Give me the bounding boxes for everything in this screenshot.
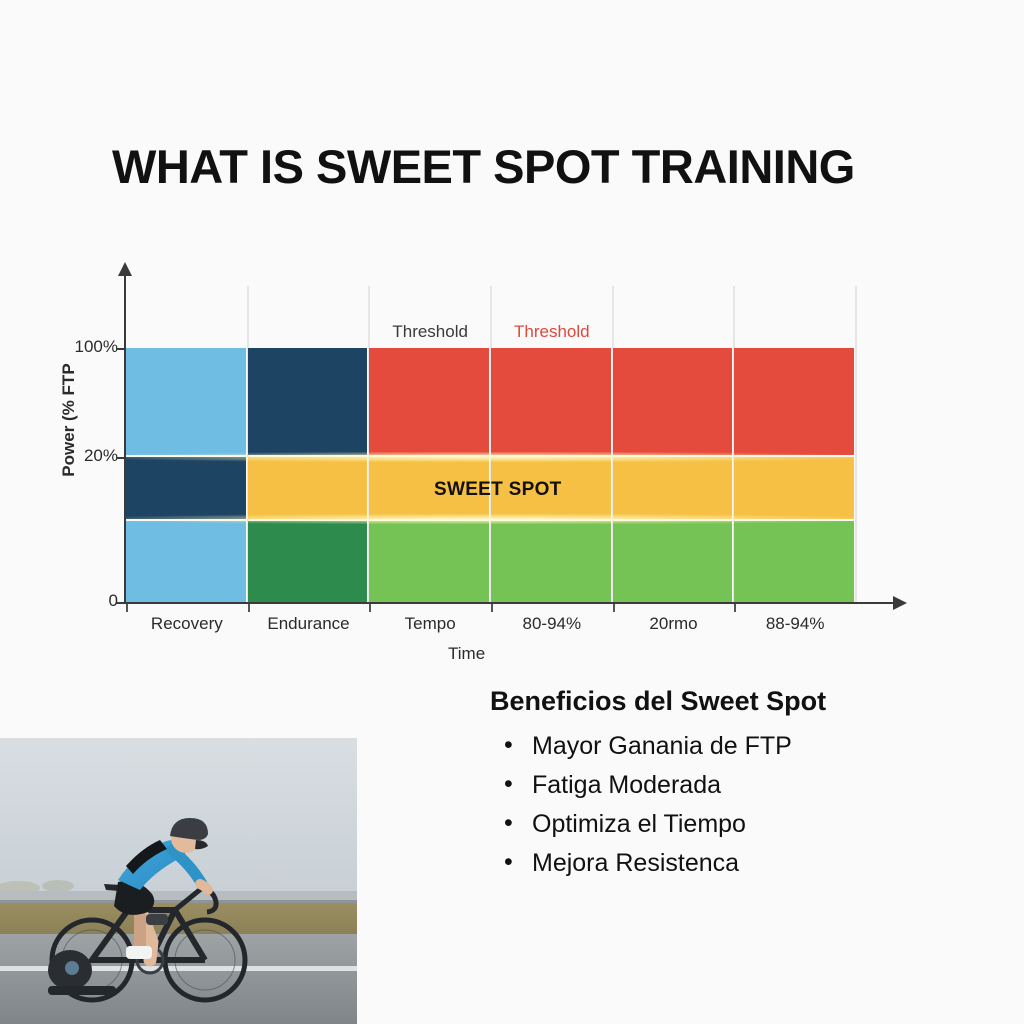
chart-column [734, 348, 854, 602]
benefits-title: Beneficios del Sweet Spot [490, 686, 990, 717]
chart-cell-bottom [491, 521, 611, 602]
chart-column [613, 348, 733, 602]
chart-cell-top [613, 348, 733, 455]
x-axis-arrow-icon [893, 596, 907, 610]
x-tick-label: Tempo [405, 614, 456, 634]
benefit-item: Optimiza el Tiempo [490, 805, 990, 844]
y-tick-mark [116, 348, 125, 350]
cyclist-illustration [0, 738, 357, 1024]
y-tick-label: 100% [58, 337, 118, 357]
chart-column [369, 348, 489, 602]
sweet-spot-chart: Power (% FTP Time 100%20%0 ThresholdThre… [0, 262, 1024, 672]
x-tick-label: Endurance [267, 614, 349, 634]
chart-cell-bottom [126, 521, 246, 602]
x-tick-mark [734, 604, 736, 612]
benefit-item: Mejora Resistenca [490, 844, 990, 883]
chart-plot-area [126, 348, 856, 602]
x-tick-label: 20rmo [649, 614, 697, 634]
sweet-spot-inline-label: SWEET SPOT [434, 479, 562, 501]
chart-cell-middle [734, 457, 854, 519]
chart-cell-top [126, 348, 246, 455]
x-tick-mark [126, 604, 128, 612]
y-tick-mark [116, 457, 125, 459]
benefit-item: Fatiga Moderada [490, 766, 990, 805]
x-tick-mark [369, 604, 371, 612]
x-tick-label: 88-94% [766, 614, 825, 634]
benefits-section: Beneficios del Sweet Spot Mayor Ganania … [490, 686, 990, 883]
threshold-annotation: Threshold [392, 322, 468, 342]
chart-cell-middle [613, 457, 733, 519]
chart-cell-top [491, 348, 611, 455]
y-tick-mark [116, 602, 125, 604]
chart-column [491, 348, 611, 602]
x-tick-label: Recovery [151, 614, 223, 634]
chart-column [248, 348, 368, 602]
chart-cell-bottom [734, 521, 854, 602]
x-tick-mark [613, 604, 615, 612]
chart-cell-bottom [613, 521, 733, 602]
chart-cell-bottom [369, 521, 489, 602]
y-axis-ticks: 100%20%0 [46, 262, 118, 604]
chart-column [126, 348, 246, 602]
x-tick-mark [248, 604, 250, 612]
page-title: WHAT IS SWEET SPOT TRAINING [112, 142, 952, 191]
benefit-item: Mayor Ganania de FTP [490, 727, 990, 766]
chart-cell-bottom [248, 521, 368, 602]
x-axis-line [124, 602, 896, 604]
y-tick-label: 20% [58, 446, 118, 466]
chart-cell-middle [126, 457, 246, 519]
chart-cell-top [734, 348, 854, 455]
x-tick-mark [491, 604, 493, 612]
y-tick-label: 0 [58, 591, 118, 611]
chart-cell-middle [248, 457, 368, 519]
x-tick-label: 80-94% [523, 614, 582, 634]
chart-cell-top [369, 348, 489, 455]
chart-cell-top [248, 348, 368, 455]
threshold-annotation: Threshold [514, 322, 590, 342]
benefits-list: Mayor Ganania de FTPFatiga ModeradaOptim… [490, 727, 990, 883]
x-axis-title: Time [448, 644, 485, 664]
infographic-page: WHAT IS SWEET SPOT TRAINING Power (% FTP… [0, 0, 1024, 1024]
cyclist-photo [0, 738, 357, 1024]
